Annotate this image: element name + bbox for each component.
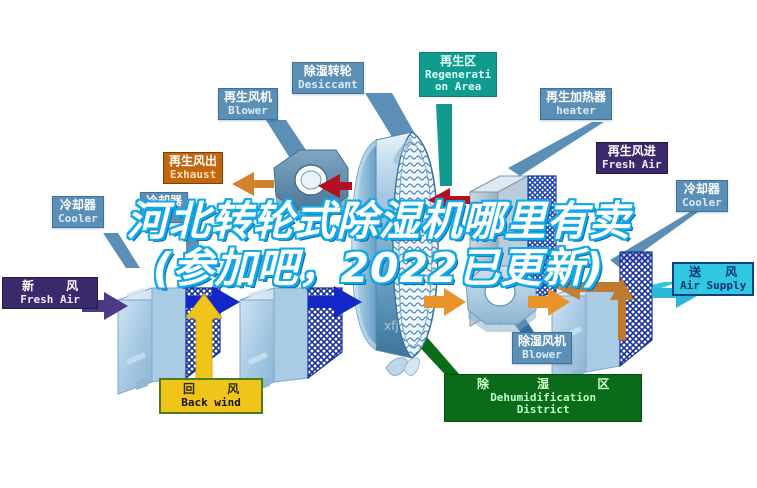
label-dehumidification-district-en1: Dehumidification: [455, 392, 631, 404]
label-cooler-left-1-cn: 冷却器: [58, 199, 98, 212]
label-cooler-right-en: Cooler: [682, 197, 722, 209]
label-exhaust: 再生风出 Exhaust: [163, 152, 223, 184]
label-regeneration-area-en2: on Area: [425, 81, 491, 93]
label-dehumidification-blower: 除湿风机 Blower: [512, 332, 572, 364]
label-air-supply-en: Air Supply: [679, 280, 747, 292]
label-dehumidification-blower-cn: 除湿风机: [518, 335, 566, 348]
dehumidifier-schematic: xfj: [0, 0, 757, 488]
label-regeneration-blower-en: Blower: [224, 105, 272, 117]
label-desiccant-wheel-cn: 除湿转轮: [298, 65, 358, 78]
label-air-supply-cn: 送 风: [679, 266, 747, 279]
label-regeneration-area-cn: 再生区: [425, 55, 491, 68]
process-fan-housing: [466, 266, 536, 332]
label-back-wind: 回 风 Back wind: [159, 378, 263, 414]
label-regeneration-fresh-air: 再生风进 Fresh Air: [596, 142, 668, 174]
label-cooler-left-1-en: Cooler: [58, 213, 98, 225]
diagram-canvas: xfj: [0, 0, 757, 488]
label-cooler-left-1: 冷却器 Cooler: [52, 196, 104, 228]
svg-text:xfj: xfj: [384, 319, 399, 333]
label-desiccant-wheel: 除湿转轮 Desiccant: [292, 62, 364, 94]
label-regeneration-heater-en: heater: [546, 105, 606, 117]
label-exhaust-cn: 再生风出: [169, 155, 217, 168]
label-cooler-right: 冷却器 Cooler: [676, 180, 728, 212]
label-dehumidification-blower-en: Blower: [518, 349, 566, 361]
label-back-wind-en: Back wind: [169, 397, 253, 409]
label-air-supply: 送 风 Air Supply: [672, 262, 754, 296]
label-regeneration-heater: 再生加热器 heater: [540, 88, 612, 120]
exhaust-arrow: [232, 172, 274, 196]
label-fresh-air: 新 风 Fresh Air: [2, 277, 98, 309]
desiccant-rotor-drum: xfj: [352, 130, 438, 376]
label-cooler-left-2: 冷却器: [140, 192, 188, 223]
label-regeneration-fresh-air-en: Fresh Air: [602, 159, 662, 171]
label-fresh-air-cn: 新 风: [8, 280, 92, 293]
label-cooler-right-cn: 冷却器: [682, 183, 722, 196]
label-regeneration-fresh-air-cn: 再生风进: [602, 145, 662, 158]
label-regeneration-blower: 再生风机 Blower: [218, 88, 278, 120]
label-desiccant-wheel-en: Desiccant: [298, 79, 358, 91]
label-regeneration-blower-cn: 再生风机: [224, 91, 272, 104]
label-regeneration-area-en1: Regenerati: [425, 69, 491, 81]
label-regeneration-area: 再生区 Regenerati on Area: [419, 52, 497, 97]
label-regeneration-heater-cn: 再生加热器: [546, 91, 606, 104]
label-dehumidification-district-en2: District: [455, 404, 631, 416]
label-back-wind-cn: 回 风: [169, 383, 253, 396]
label-dehumidification-district-cn: 除 湿 区: [455, 378, 631, 391]
label-cooler-left-2-cn: 冷却器: [146, 195, 182, 208]
label-dehumidification-district: 除 湿 区 Dehumidification District: [444, 374, 642, 422]
label-fresh-air-en: Fresh Air: [8, 294, 92, 306]
label-exhaust-en: Exhaust: [169, 169, 217, 181]
